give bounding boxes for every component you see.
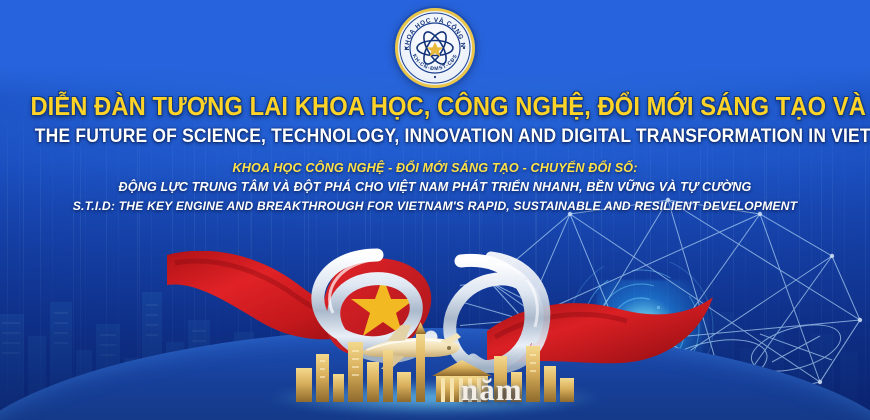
ministry-logo: BỘ KHOA HỌC VÀ CÔNG NGHỆ KH-CN-ĐMST-CĐS [395, 8, 475, 88]
page-title-vietnamese: DIỄN ĐÀN TƯƠNG LAI KHOA HỌC, CÔNG NGHỆ, … [30, 92, 839, 122]
title-block: DIỄN ĐÀN TƯƠNG LAI KHOA HỌC, CÔNG NGHỆ, … [0, 92, 870, 216]
subtitle-line-2: ĐỘNG LỰC TRUNG TÂM VÀ ĐỘT PHÁ CHO VIỆT N… [0, 178, 870, 197]
subtitle-block: KHOA HỌC CÔNG NGHỆ - ĐỔI MỚI SÁNG TẠO - … [0, 159, 870, 216]
anniversary-unit-label: năm [461, 372, 523, 408]
subtitle-line-3: S.T.I.D: THE KEY ENGINE AND BREAKTHROUGH… [0, 197, 870, 216]
anniversary-emblem: năm [225, 245, 645, 420]
city-skyline-silhouette [290, 316, 580, 402]
conference-banner: BỘ KHOA HỌC VÀ CÔNG NGHỆ KH-CN-ĐMST-CĐS … [0, 0, 870, 420]
atom-icon: BỘ KHOA HỌC VÀ CÔNG NGHỆ KH-CN-ĐMST-CĐS [398, 11, 472, 85]
svg-text:BỘ KHOA HỌC VÀ CÔNG NGHỆ: BỘ KHOA HỌC VÀ CÔNG NGHỆ [398, 11, 466, 50]
page-title-english: THE FUTURE OF SCIENCE, TECHNOLOGY, INNOV… [35, 124, 835, 150]
subtitle-line-1: KHOA HỌC CÔNG NGHỆ - ĐỔI MỚI SÁNG TẠO - … [0, 159, 870, 178]
